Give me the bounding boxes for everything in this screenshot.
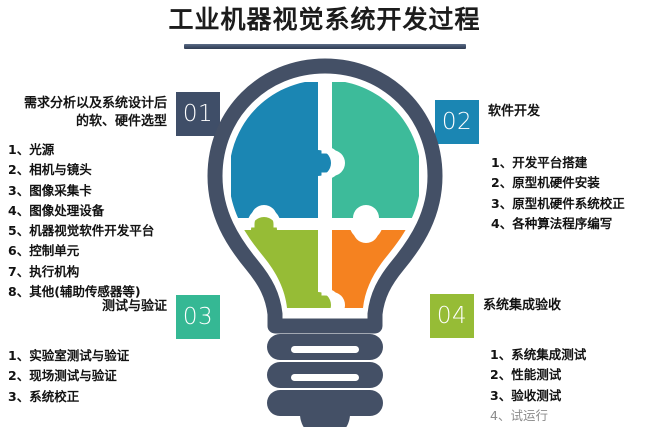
bulb-base-gap-1 xyxy=(291,346,359,353)
quadrant-03-list: 1、实验室测试与验证 2、现场测试与验证 3、系统校正 xyxy=(8,346,220,407)
list-item: 2、相机与镜头 xyxy=(8,160,220,180)
list-item: 7、执行机构 xyxy=(8,262,220,282)
list-item: 6、控制单元 xyxy=(8,241,220,261)
list-item: 4、图像处理设备 xyxy=(8,201,220,221)
quadrant-03: 测试与验证 03 1、实验室测试与验证 2、现场测试与验证 3、系统校正 xyxy=(8,295,220,407)
quadrant-01: 需求分析以及系统设计后的软、硬件选型 01 1、光源 2、相机与镜头 3、图像采… xyxy=(8,92,220,302)
quadrant-02-title: 软件开发 xyxy=(488,100,540,121)
list-item: 4、各种算法程序编写 xyxy=(491,214,645,234)
list-item: 3、系统校正 xyxy=(8,387,220,407)
list-item: 2、原型机硬件安装 xyxy=(491,173,645,193)
list-item: 3、原型机硬件系统校正 xyxy=(491,194,645,214)
list-item: 3、验收测试 xyxy=(490,386,645,406)
list-item: 1、开发平台搭建 xyxy=(491,153,645,173)
infographic-page: 工业机器视觉系统开发过程 需求分析以及系统设计后的软、硬件选型 01 1、光源 … xyxy=(0,0,649,427)
quadrant-01-title: 需求分析以及系统设计后的软、硬件选型 xyxy=(17,92,167,130)
quadrant-02-header: 02 软件开发 xyxy=(435,100,645,144)
lightbulb-puzzle-icon xyxy=(205,58,445,427)
quadrant-04-header: 04 系统集成验收 xyxy=(430,294,645,338)
quadrant-04: 04 系统集成验收 1、系统集成测试 2、性能测试 3、验收测试 4、试运行 xyxy=(430,294,645,426)
list-item: 2、性能测试 xyxy=(490,365,645,385)
quadrant-02: 02 软件开发 1、开发平台搭建 2、原型机硬件安装 3、原型机硬件系统校正 4… xyxy=(435,100,645,234)
list-item: 3、图像采集卡 xyxy=(8,181,220,201)
quadrant-04-list: 1、系统集成测试 2、性能测试 3、验收测试 4、试运行 xyxy=(490,345,645,426)
puzzle-group xyxy=(227,82,423,358)
list-item: 5、机器视觉软件开发平台 xyxy=(8,221,220,241)
title-underline-rule xyxy=(184,44,466,49)
list-item: 2、现场测试与验证 xyxy=(8,366,220,386)
quadrant-01-header: 需求分析以及系统设计后的软、硬件选型 01 xyxy=(8,92,220,136)
bulb-contact-tip xyxy=(300,410,350,427)
quadrant-04-title: 系统集成验收 xyxy=(483,294,561,315)
list-item: 1、实验室测试与验证 xyxy=(8,346,220,366)
quadrant-03-title: 测试与验证 xyxy=(102,295,167,316)
quadrant-02-list: 1、开发平台搭建 2、原型机硬件安装 3、原型机硬件系统校正 4、各种算法程序编… xyxy=(491,153,645,234)
title-block: 工业机器视觉系统开发过程 xyxy=(0,4,649,49)
list-item: 1、光源 xyxy=(8,140,220,160)
page-title: 工业机器视觉系统开发过程 xyxy=(0,4,649,35)
list-item: 4、试运行 xyxy=(490,406,645,426)
list-item: 1、系统集成测试 xyxy=(490,345,645,365)
quadrant-03-header: 测试与验证 03 xyxy=(8,295,220,339)
bulb-base-gap-2 xyxy=(291,374,359,381)
bulb-base xyxy=(267,334,383,427)
quadrant-01-list: 1、光源 2、相机与镜头 3、图像采集卡 4、图像处理设备 5、机器视觉软件开发… xyxy=(8,140,220,302)
